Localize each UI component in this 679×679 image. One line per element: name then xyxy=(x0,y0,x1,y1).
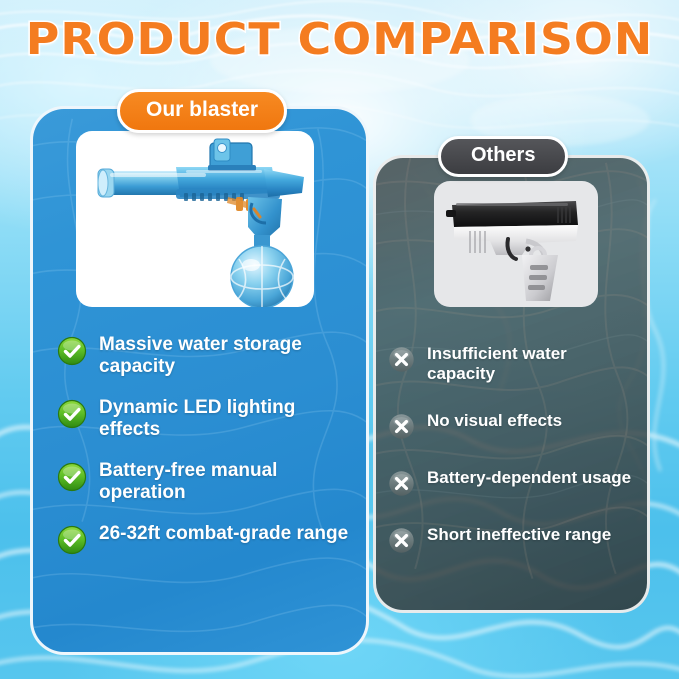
feature-label: Insufficient water capacity xyxy=(427,344,638,383)
black-white-pistol-water-gun-image xyxy=(434,181,598,307)
list-item: Insufficient water capacity xyxy=(388,344,638,383)
list-item: 26-32ft combat-grade range xyxy=(57,523,357,555)
feature-label: Short ineffective range xyxy=(427,525,611,545)
product-card-others xyxy=(434,181,598,307)
feature-label: Massive water storage capacity xyxy=(99,334,357,378)
badge-our-blaster[interactable]: Our blaster xyxy=(117,89,287,133)
list-item: Battery-free manual operation xyxy=(57,460,357,504)
list-item: Battery-dependent usage xyxy=(388,468,638,497)
feature-list-others: Insufficient water capacity No visual ef… xyxy=(388,344,638,582)
list-item: Massive water storage capacity xyxy=(57,334,357,378)
page-title: PRODUCT COMPARISON xyxy=(0,14,679,65)
feature-label: 26-32ft combat-grade range xyxy=(99,523,348,545)
check-icon xyxy=(57,525,87,555)
cross-icon xyxy=(388,346,415,373)
list-item: No visual effects xyxy=(388,411,638,440)
feature-list-our-blaster: Massive water storage capacity Dynamic L… xyxy=(57,334,357,574)
cross-icon xyxy=(388,413,415,440)
check-icon xyxy=(57,336,87,366)
product-card-our-blaster xyxy=(76,131,314,307)
badge-others[interactable]: Others xyxy=(438,136,568,177)
cross-icon xyxy=(388,470,415,497)
list-item: Short ineffective range xyxy=(388,525,638,554)
cross-icon xyxy=(388,527,415,554)
check-icon xyxy=(57,399,87,429)
blue-water-blaster-image xyxy=(76,131,314,307)
check-icon xyxy=(57,462,87,492)
list-item: Dynamic LED lighting effects xyxy=(57,397,357,441)
feature-label: No visual effects xyxy=(427,411,562,431)
feature-label: Dynamic LED lighting effects xyxy=(99,397,357,441)
feature-label: Battery-dependent usage xyxy=(427,468,631,488)
feature-label: Battery-free manual operation xyxy=(99,460,357,504)
